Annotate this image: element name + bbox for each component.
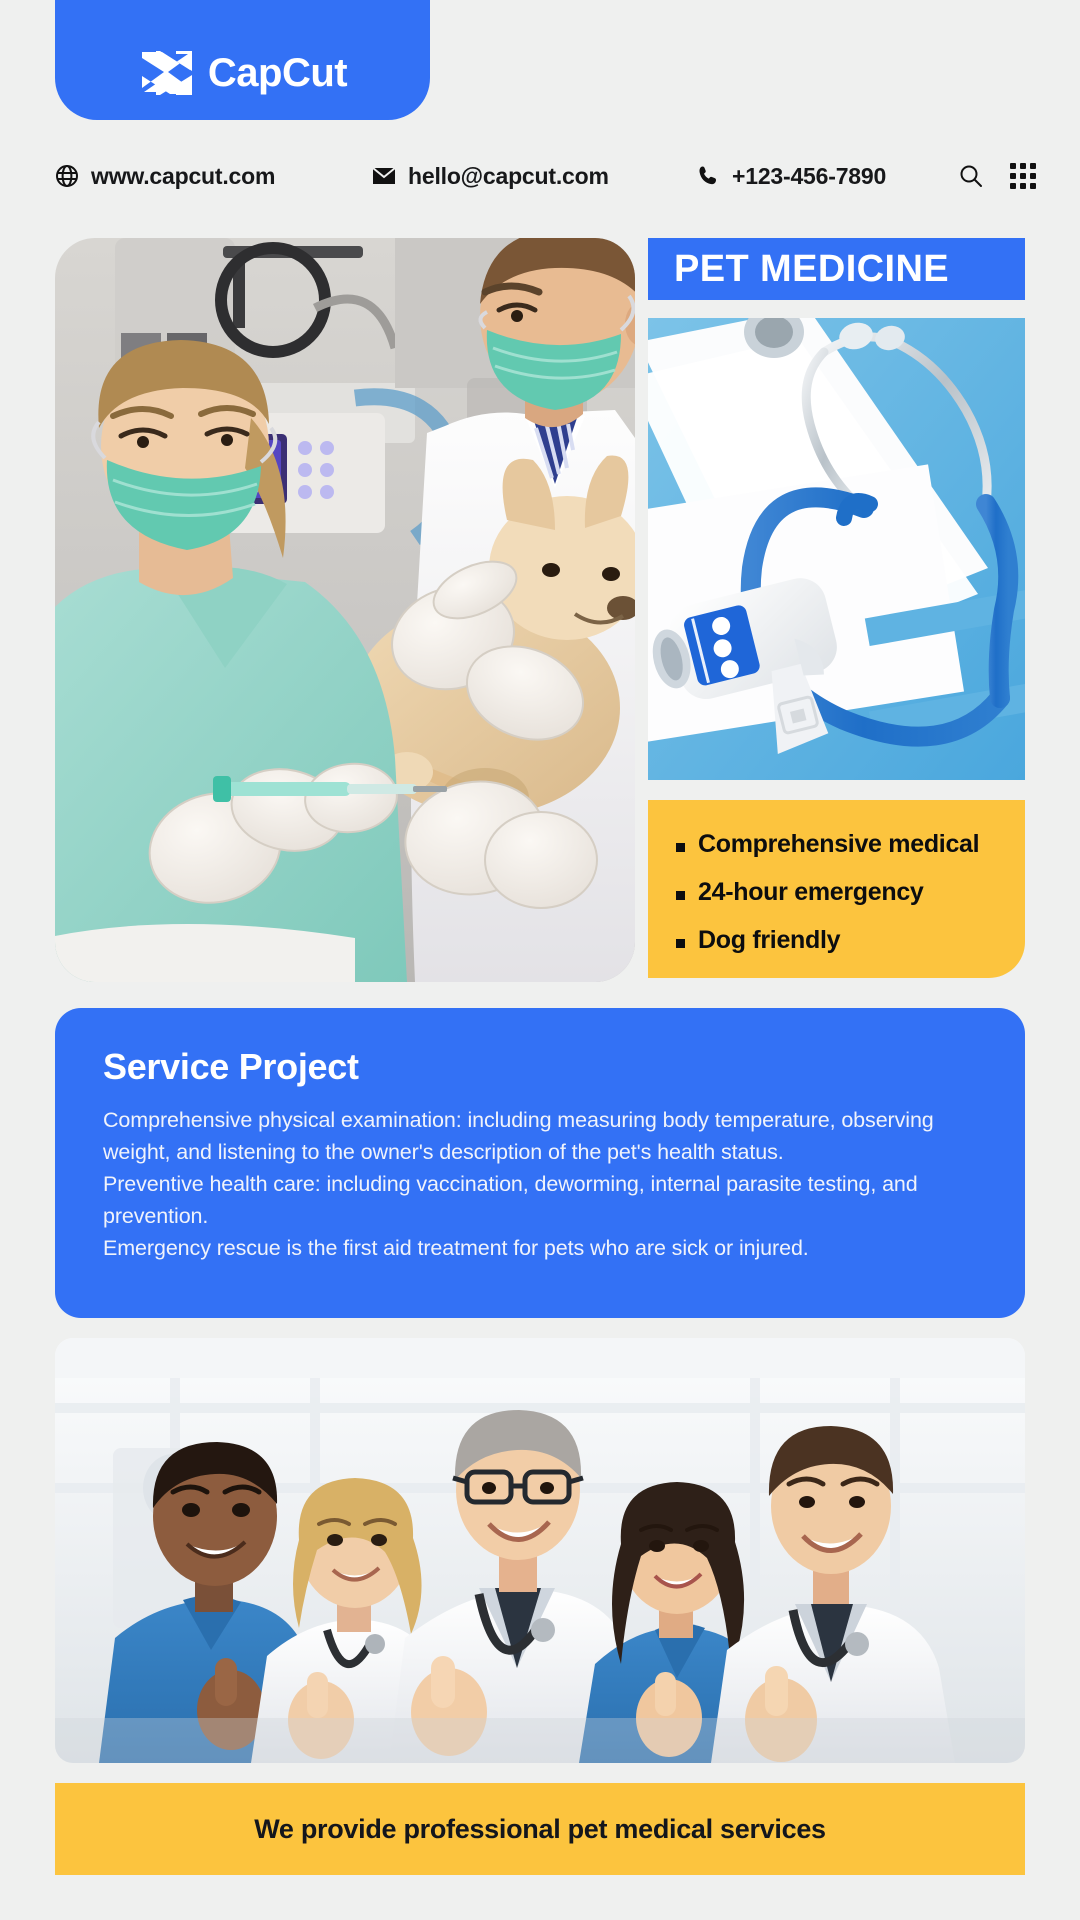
envelope-icon [372, 164, 396, 188]
contact-tools [958, 163, 1036, 189]
contact-phone-text: +123-456-7890 [732, 163, 886, 190]
square-bullet-icon [676, 891, 685, 900]
grid-cell [1010, 173, 1016, 179]
square-bullet-icon [676, 939, 685, 948]
service-paragraph: Emergency rescue is the first aid treatm… [103, 1232, 979, 1264]
equipment-photo [648, 318, 1025, 780]
square-bullet-icon [676, 843, 685, 852]
poster-canvas: CapCut www.capcut.com hello@capcut.com [0, 0, 1080, 1920]
hero-main-photo [55, 238, 635, 982]
pet-medicine-title-banner: PET MEDICINE [648, 238, 1025, 300]
service-project-body: Comprehensive physical examination: incl… [103, 1104, 979, 1264]
grid-cell [1030, 173, 1036, 179]
search-icon[interactable] [958, 163, 984, 189]
grid-menu-icon[interactable] [1010, 163, 1036, 189]
feature-item-label: 24-hour emergency [698, 878, 924, 907]
feature-item: 24-hour emergency [676, 878, 1003, 907]
grid-cell [1010, 163, 1016, 169]
contact-email[interactable]: hello@capcut.com [372, 163, 609, 190]
service-project-title: Service Project [103, 1046, 979, 1088]
feature-item: Comprehensive medical [676, 830, 1003, 859]
service-paragraph: Preventive health care: including vaccin… [103, 1168, 979, 1232]
grid-cell [1020, 173, 1026, 179]
feature-item: Dog friendly [676, 926, 1003, 955]
service-project-section: Service Project Comprehensive physical e… [55, 1008, 1025, 1318]
feature-item-label: Dog friendly [698, 926, 840, 955]
grid-cell [1020, 163, 1026, 169]
contact-website[interactable]: www.capcut.com [55, 163, 275, 190]
service-paragraph: Comprehensive physical examination: incl… [103, 1104, 979, 1168]
contact-bar: www.capcut.com hello@capcut.com +123-456… [0, 152, 1080, 200]
medical-team-illustration [55, 1338, 1025, 1763]
grid-cell [1020, 183, 1026, 189]
brand-name: CapCut [208, 53, 347, 93]
features-list: Comprehensive medical 24-hour emergency … [676, 830, 1003, 955]
brand-logo-inner: CapCut [138, 50, 347, 96]
vet-clinic-illustration [55, 238, 635, 982]
pet-medicine-title-text: PET MEDICINE [674, 248, 949, 291]
feature-item-label: Comprehensive medical [698, 830, 979, 859]
contact-email-text: hello@capcut.com [408, 163, 609, 190]
features-box: Comprehensive medical 24-hour emergency … [648, 800, 1025, 978]
grid-cell [1030, 183, 1036, 189]
grid-cell [1030, 163, 1036, 169]
globe-icon [55, 164, 79, 188]
team-photo [55, 1338, 1025, 1763]
contact-phone[interactable]: +123-456-7890 [696, 163, 886, 190]
phone-icon [696, 164, 720, 188]
footer-banner: We provide professional pet medical serv… [55, 1783, 1025, 1875]
grid-cell [1010, 183, 1016, 189]
contact-website-text: www.capcut.com [91, 163, 275, 190]
capcut-logo-icon [138, 50, 194, 96]
brand-logo-badge[interactable]: CapCut [55, 0, 430, 120]
stethoscope-thermometer-illustration [648, 318, 1025, 780]
footer-text: We provide professional pet medical serv… [254, 1814, 826, 1845]
